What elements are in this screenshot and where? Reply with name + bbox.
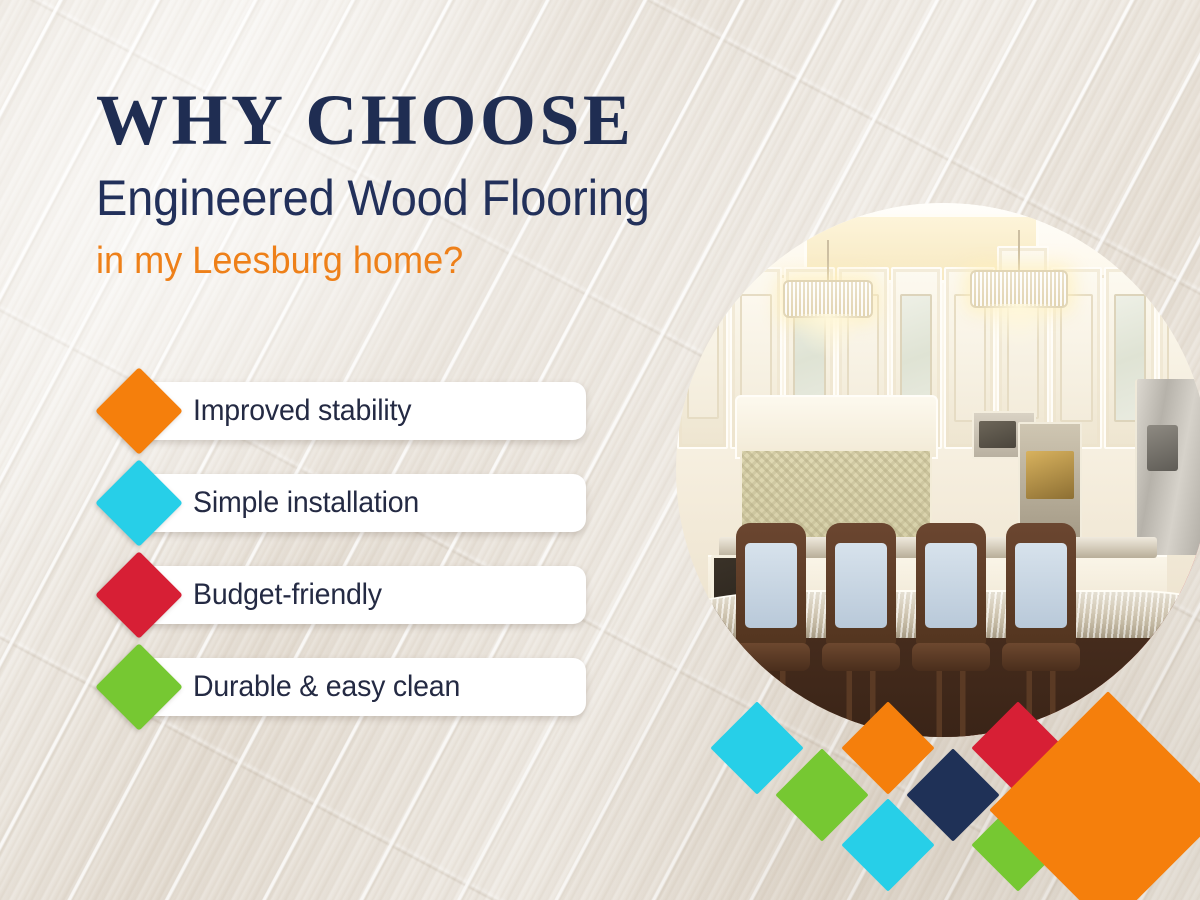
stool-cushion <box>745 543 797 628</box>
cabinet <box>677 246 728 449</box>
kitchen-photo <box>676 203 1200 737</box>
stool-cushion <box>925 543 977 628</box>
pendant-shade <box>970 270 1068 308</box>
kitchen-scene <box>676 203 1200 737</box>
pendant-cord <box>1018 230 1020 270</box>
stool-seat <box>912 643 990 671</box>
pendant-glow <box>794 314 862 358</box>
pendant-light <box>783 240 873 360</box>
kitchen-wall-oven <box>1018 422 1082 539</box>
kitchen-refrigerator <box>1135 379 1200 555</box>
benefit-label: Simple installation <box>193 474 419 532</box>
benefit-label: Improved stability <box>193 382 411 440</box>
page-question: in my Leesburg home? <box>96 240 761 283</box>
stool-legs <box>838 671 884 737</box>
bar-stool <box>822 523 900 737</box>
bar-stool <box>912 523 990 737</box>
stool-seat <box>1002 643 1080 671</box>
poster-canvas: WHY CHOOSE Engineered Wood Flooring in m… <box>0 0 1200 900</box>
stool-legs <box>928 671 974 737</box>
pendant-light <box>970 230 1068 355</box>
pendant-glow <box>981 304 1055 348</box>
stool-seat <box>732 643 810 671</box>
stool-cushion <box>1015 543 1067 628</box>
stool-legs <box>748 671 794 737</box>
bar-stool <box>732 523 810 737</box>
stool-seat <box>822 643 900 671</box>
page-subtitle: Engineered Wood Flooring <box>96 172 754 224</box>
pendant-shade <box>783 280 873 318</box>
stool-cushion <box>835 543 887 628</box>
page-title: WHY CHOOSE <box>96 86 796 154</box>
benefit-label: Durable & easy clean <box>193 658 460 716</box>
pendant-cord <box>827 240 829 280</box>
stool-legs <box>1018 671 1064 737</box>
benefit-label: Budget-friendly <box>193 566 382 624</box>
bar-stool <box>1002 523 1080 737</box>
